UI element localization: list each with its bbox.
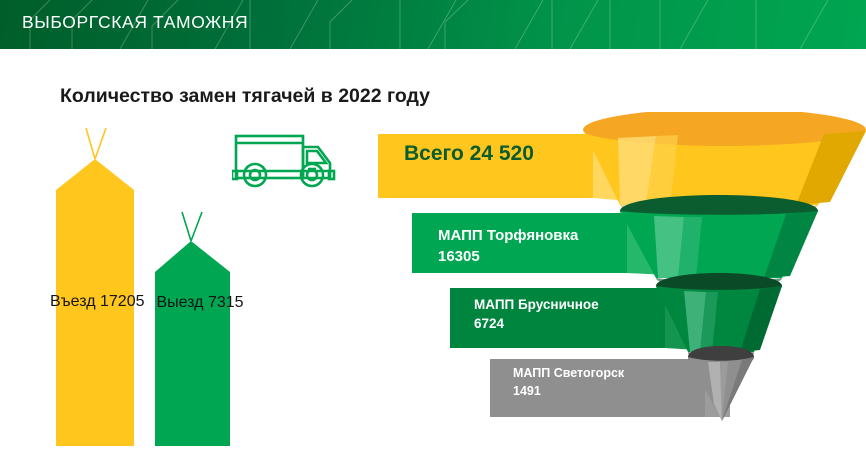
bar-entry: Въезд 17205: [50, 126, 140, 447]
bar-exit-label: Выезд: [156, 294, 203, 311]
funnel-label-1-name: МАПП Торфяновка: [438, 225, 578, 246]
funnel-label-1-value: 16305: [438, 246, 578, 267]
funnel-label-1: МАПП Торфяновка 16305: [438, 225, 578, 267]
funnel-label-3-name: МАПП Светогорск: [513, 364, 624, 382]
bar-entry-label: Въезд: [50, 293, 96, 310]
funnel-total-label: Всего 24 520: [404, 142, 534, 166]
funnel-label-2: МАПП Брусничное 6724: [474, 295, 599, 333]
bar-entry-text: Въезд 17205: [50, 291, 140, 312]
bar-exit-value: 7315: [208, 294, 244, 311]
app-header: ВЫБОРГСКАЯ ТАМОЖНЯ: [0, 0, 866, 49]
truck-icon: [232, 130, 338, 196]
funnel-chart: Всего 24 520 МАПП Торфяновка 16305 МАПП …: [378, 112, 866, 427]
funnel-label-2-value: 6724: [474, 314, 599, 333]
bar-entry-value: 17205: [100, 293, 145, 310]
funnel-label-2-name: МАПП Брусничное: [474, 295, 599, 314]
organization-title: ВЫБОРГСКАЯ ТАМОЖНЯ: [22, 12, 248, 33]
bar-exit-text: Выезд 7315: [155, 292, 245, 313]
page-title: Количество замен тягачей в 2022 году: [60, 85, 430, 108]
bar-exit: Выезд 7315: [155, 210, 245, 447]
bar-exit-shape: [155, 210, 245, 447]
bar-entry-shape: [50, 126, 140, 447]
funnel-label-3-value: 1491: [513, 382, 624, 400]
funnel-label-3: МАПП Светогорск 1491: [513, 364, 624, 400]
